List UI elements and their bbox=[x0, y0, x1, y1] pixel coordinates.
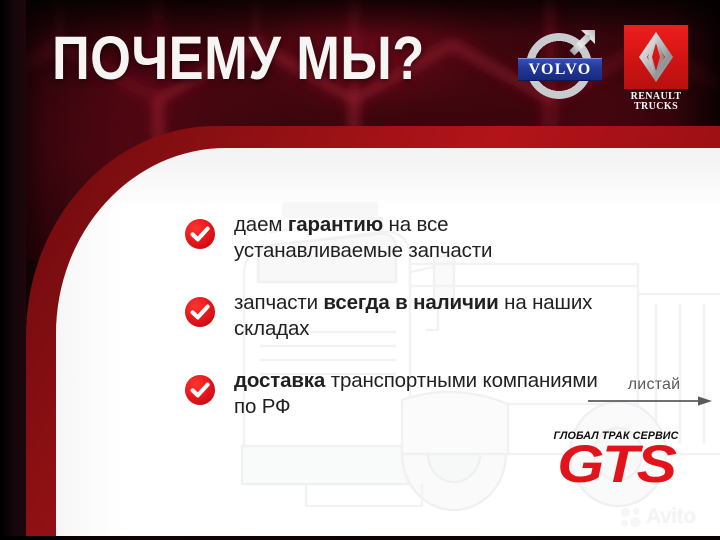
renault-trucks-logo: RENAULT TRUCKS bbox=[624, 25, 688, 112]
swipe-hint: листай bbox=[588, 376, 714, 407]
benefit-text-bold: всегда в наличии bbox=[323, 291, 498, 314]
company-logo: ГЛОБАЛ ТРАК СЕРВИС GTS bbox=[538, 430, 694, 491]
company-wordmark: GTS bbox=[527, 438, 705, 491]
list-item-text: даем гарантию на все устанавливаемые зап… bbox=[234, 212, 604, 263]
bottom-edge-line bbox=[0, 536, 720, 540]
arrow-right-icon bbox=[588, 395, 714, 407]
volvo-wordmark-band: VOLVO bbox=[518, 58, 602, 81]
renault-diamond-icon bbox=[634, 31, 678, 83]
avito-dots-icon bbox=[620, 507, 642, 528]
list-item-text: доставка транспортными компаниями по РФ bbox=[234, 368, 604, 419]
volvo-arrow-icon bbox=[568, 27, 598, 57]
benefits-list: даем гарантию на все устанавливаемые зап… bbox=[184, 212, 604, 446]
volvo-logo: VOLVO bbox=[518, 25, 602, 109]
swipe-hint-label: листай bbox=[594, 376, 714, 394]
benefit-text-bold: гарантию bbox=[288, 213, 383, 236]
page-title: ПОЧЕМУ МЫ? bbox=[52, 26, 425, 90]
list-item: даем гарантию на все устанавливаемые зап… bbox=[184, 212, 604, 263]
check-circle-icon bbox=[184, 218, 216, 250]
volvo-wordmark: VOLVO bbox=[528, 61, 591, 79]
brand-logo-group: VOLVO bbox=[518, 25, 688, 112]
benefit-text-normal: даем bbox=[234, 213, 288, 236]
benefit-text-normal: запчасти bbox=[234, 291, 323, 314]
renault-wordmark-line2: TRUCKS bbox=[624, 102, 688, 112]
avito-watermark: Avito bbox=[620, 505, 696, 529]
list-item: запчасти всегда в наличии на наших склад… bbox=[184, 290, 604, 341]
list-item: доставка транспортными компаниями по РФ bbox=[184, 368, 604, 419]
renault-wordmark: RENAULT TRUCKS bbox=[624, 92, 688, 112]
renault-logo-square bbox=[624, 25, 688, 89]
list-item-text: запчасти всегда в наличии на наших склад… bbox=[234, 290, 604, 341]
left-edge-gutter bbox=[0, 0, 26, 540]
avito-wordmark: Avito bbox=[646, 505, 696, 529]
check-circle-icon bbox=[184, 296, 216, 328]
benefit-text-bold: доставка bbox=[234, 369, 325, 392]
promo-slide: ПОЧЕМУ МЫ? VOLVO bbox=[0, 0, 720, 540]
check-circle-icon bbox=[184, 374, 216, 406]
